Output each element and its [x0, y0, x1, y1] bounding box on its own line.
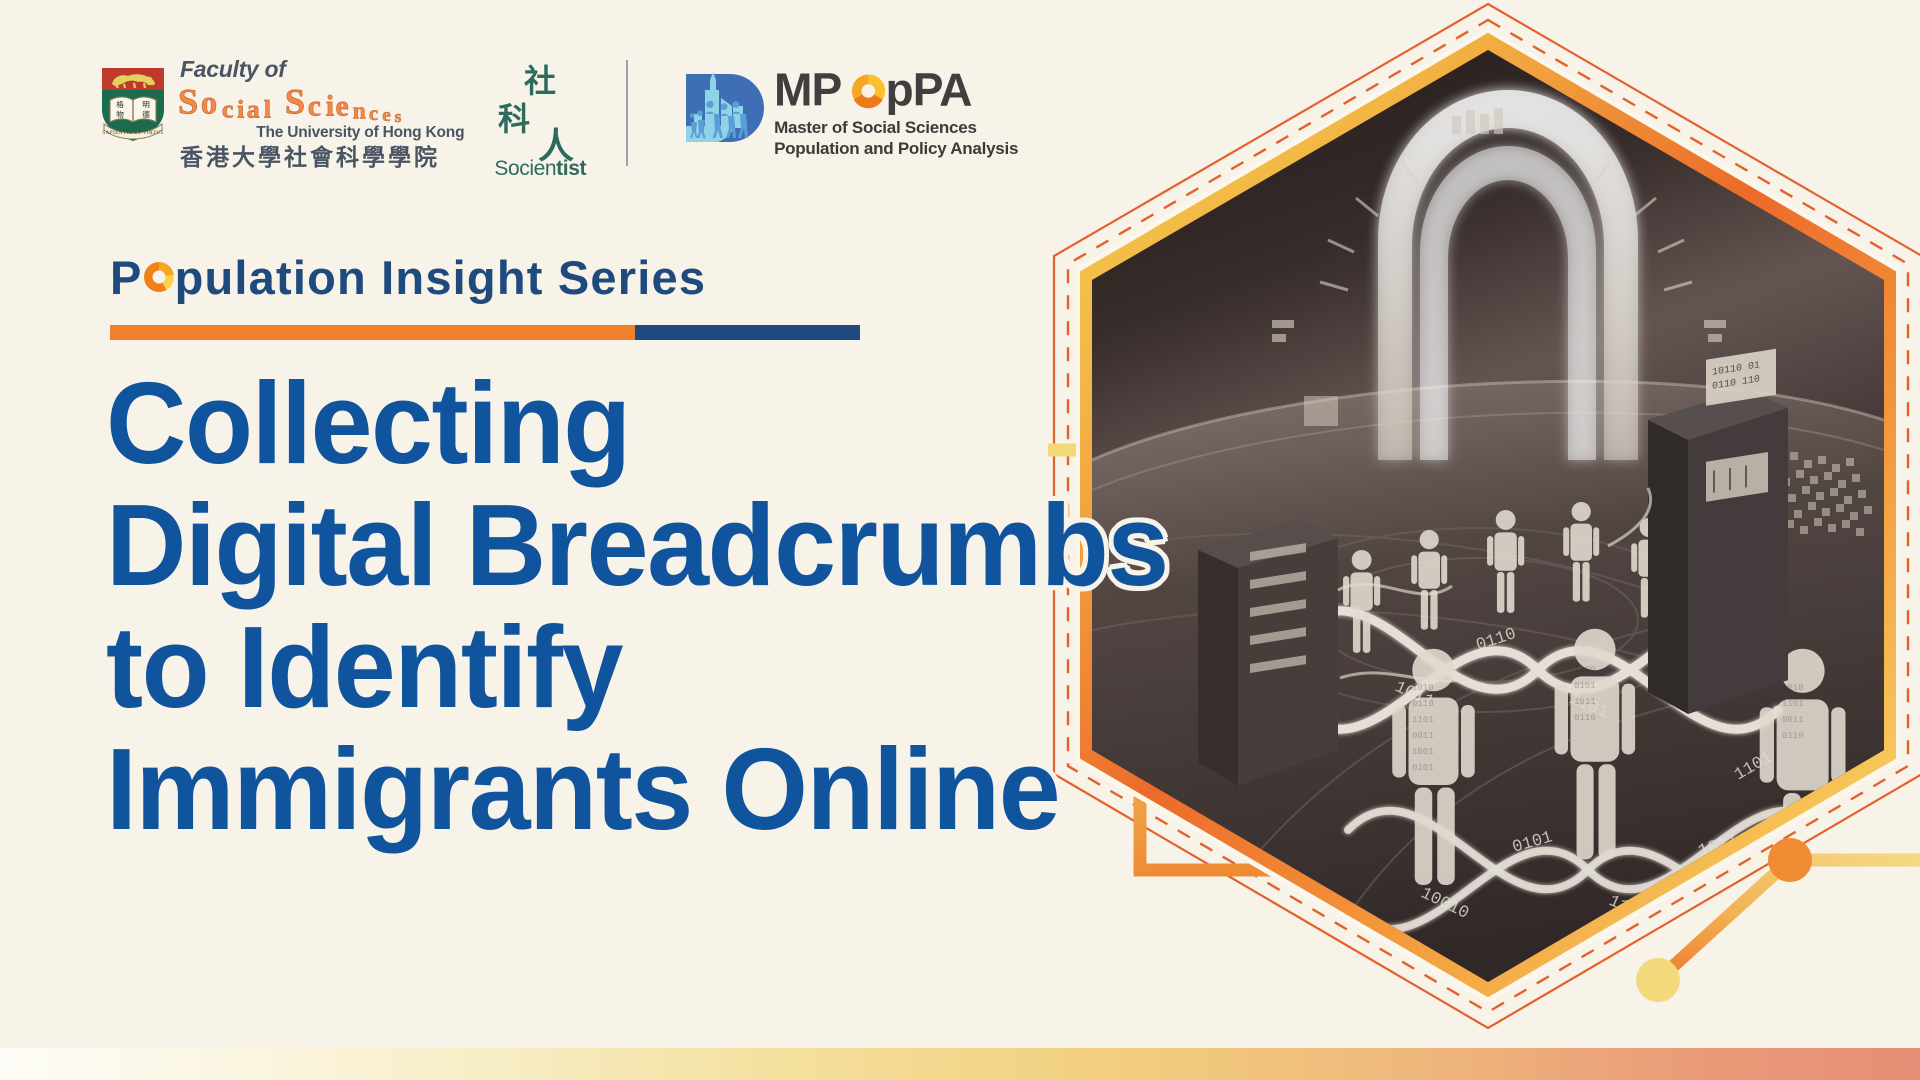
socientist-name-bold: tist	[556, 157, 586, 180]
mpoppa-subtitle: Master of Social Sciences Population and…	[774, 118, 1018, 158]
faculty-chinese-label: 香港大學社會科學學院	[180, 145, 464, 171]
svg-text:c: c	[308, 90, 321, 122]
svg-text:科: 科	[498, 100, 530, 138]
poster-canvas: 1011 0110 1101 0011 10010 0101 1110 1011…	[0, 0, 1920, 1080]
social-sciences-wordmark: S o c i a l S c i e n c e s	[178, 82, 464, 124]
svg-text:格: 格	[116, 99, 124, 109]
title-line-1: Collecting	[106, 362, 1168, 484]
page-title: Collecting Digital Breadcrumbs to Identi…	[106, 362, 1168, 850]
svg-text:s: s	[395, 107, 402, 124]
series-label: P pulation Insight Series	[110, 250, 706, 305]
faculty-of-label: Faculty of	[180, 58, 464, 81]
socientist-wordmark: Socientist	[494, 158, 586, 179]
svg-text:i: i	[237, 94, 244, 123]
svg-text:德: 德	[142, 109, 150, 119]
dot-yellow-bottom	[1636, 958, 1680, 1002]
mpoppa-logo: MP pPA Master of Social Sciences Populat…	[672, 62, 1018, 162]
bottom-gradient-strip	[0, 1048, 1920, 1080]
hexagon-photo: 1011 0110 1101 0011 10010 0101 1110 1011…	[1048, 0, 1920, 1050]
svg-text:a: a	[247, 94, 260, 123]
logo-row: 格明 物德 SAPIENTIA ET VIRTUS Faculty of S o…	[96, 56, 1018, 179]
socientist-chinese-icon: 社 科 人	[494, 58, 580, 162]
hku-faculty-logo: 格明 物德 SAPIENTIA ET VIRTUS Faculty of S o…	[96, 56, 464, 171]
mpoppa-city-people-icon	[672, 62, 768, 162]
svg-text:SAPIENTIA ET VIRTUS: SAPIENTIA ET VIRTUS	[102, 130, 163, 136]
university-label: The University of Hong Kong	[180, 125, 464, 141]
series-label-p: P	[110, 250, 143, 305]
svg-text:c: c	[222, 94, 233, 123]
svg-text:o: o	[201, 85, 217, 121]
title-line-3: to Identify	[106, 606, 1168, 728]
svg-text:c: c	[369, 101, 378, 124]
svg-text:S: S	[178, 82, 198, 121]
svg-text:l: l	[264, 94, 271, 123]
title-line-4: Immigrants Online	[106, 728, 1168, 850]
dot-orange-lower-right	[1768, 838, 1812, 882]
rule-blue-segment	[635, 325, 860, 340]
svg-text:n: n	[353, 98, 366, 124]
svg-text:MP: MP	[774, 65, 841, 115]
svg-text:明: 明	[142, 100, 150, 109]
svg-text:e: e	[335, 90, 348, 122]
hku-faculty-text: Faculty of S o c i a l S c i e n c e s	[180, 58, 464, 171]
mpoppa-subtitle-line1: Master of Social Sciences	[774, 118, 1018, 138]
svg-text:e: e	[382, 105, 390, 124]
socientist-logo: 社 科 人 Socientist	[494, 58, 586, 179]
svg-text:社: 社	[524, 62, 556, 100]
logo-divider	[626, 60, 628, 166]
hku-crest-icon: 格明 物德 SAPIENTIA ET VIRTUS	[96, 62, 170, 146]
series-rule	[110, 325, 860, 340]
donut-o-icon	[144, 262, 174, 292]
rule-orange-segment	[110, 325, 635, 340]
mpoppa-subtitle-line2: Population and Policy Analysis	[774, 139, 1018, 159]
mpoppa-text: MP pPA Master of Social Sciences Populat…	[774, 65, 1018, 158]
series-label-rest: pulation Insight Series	[175, 250, 707, 305]
svg-text:S: S	[285, 82, 305, 121]
title-line-2: Digital Breadcrumbs	[106, 484, 1168, 606]
mpoppa-wordmark: MP pPA	[774, 65, 1003, 115]
svg-text:i: i	[326, 90, 334, 122]
hexagon-artwork: 1011 0110 1101 0011 10010 0101 1110 1011…	[1048, 0, 1920, 1050]
svg-text:pPA: pPA	[886, 65, 973, 115]
svg-text:物: 物	[116, 109, 124, 119]
socientist-name-light: Socien	[494, 157, 556, 180]
